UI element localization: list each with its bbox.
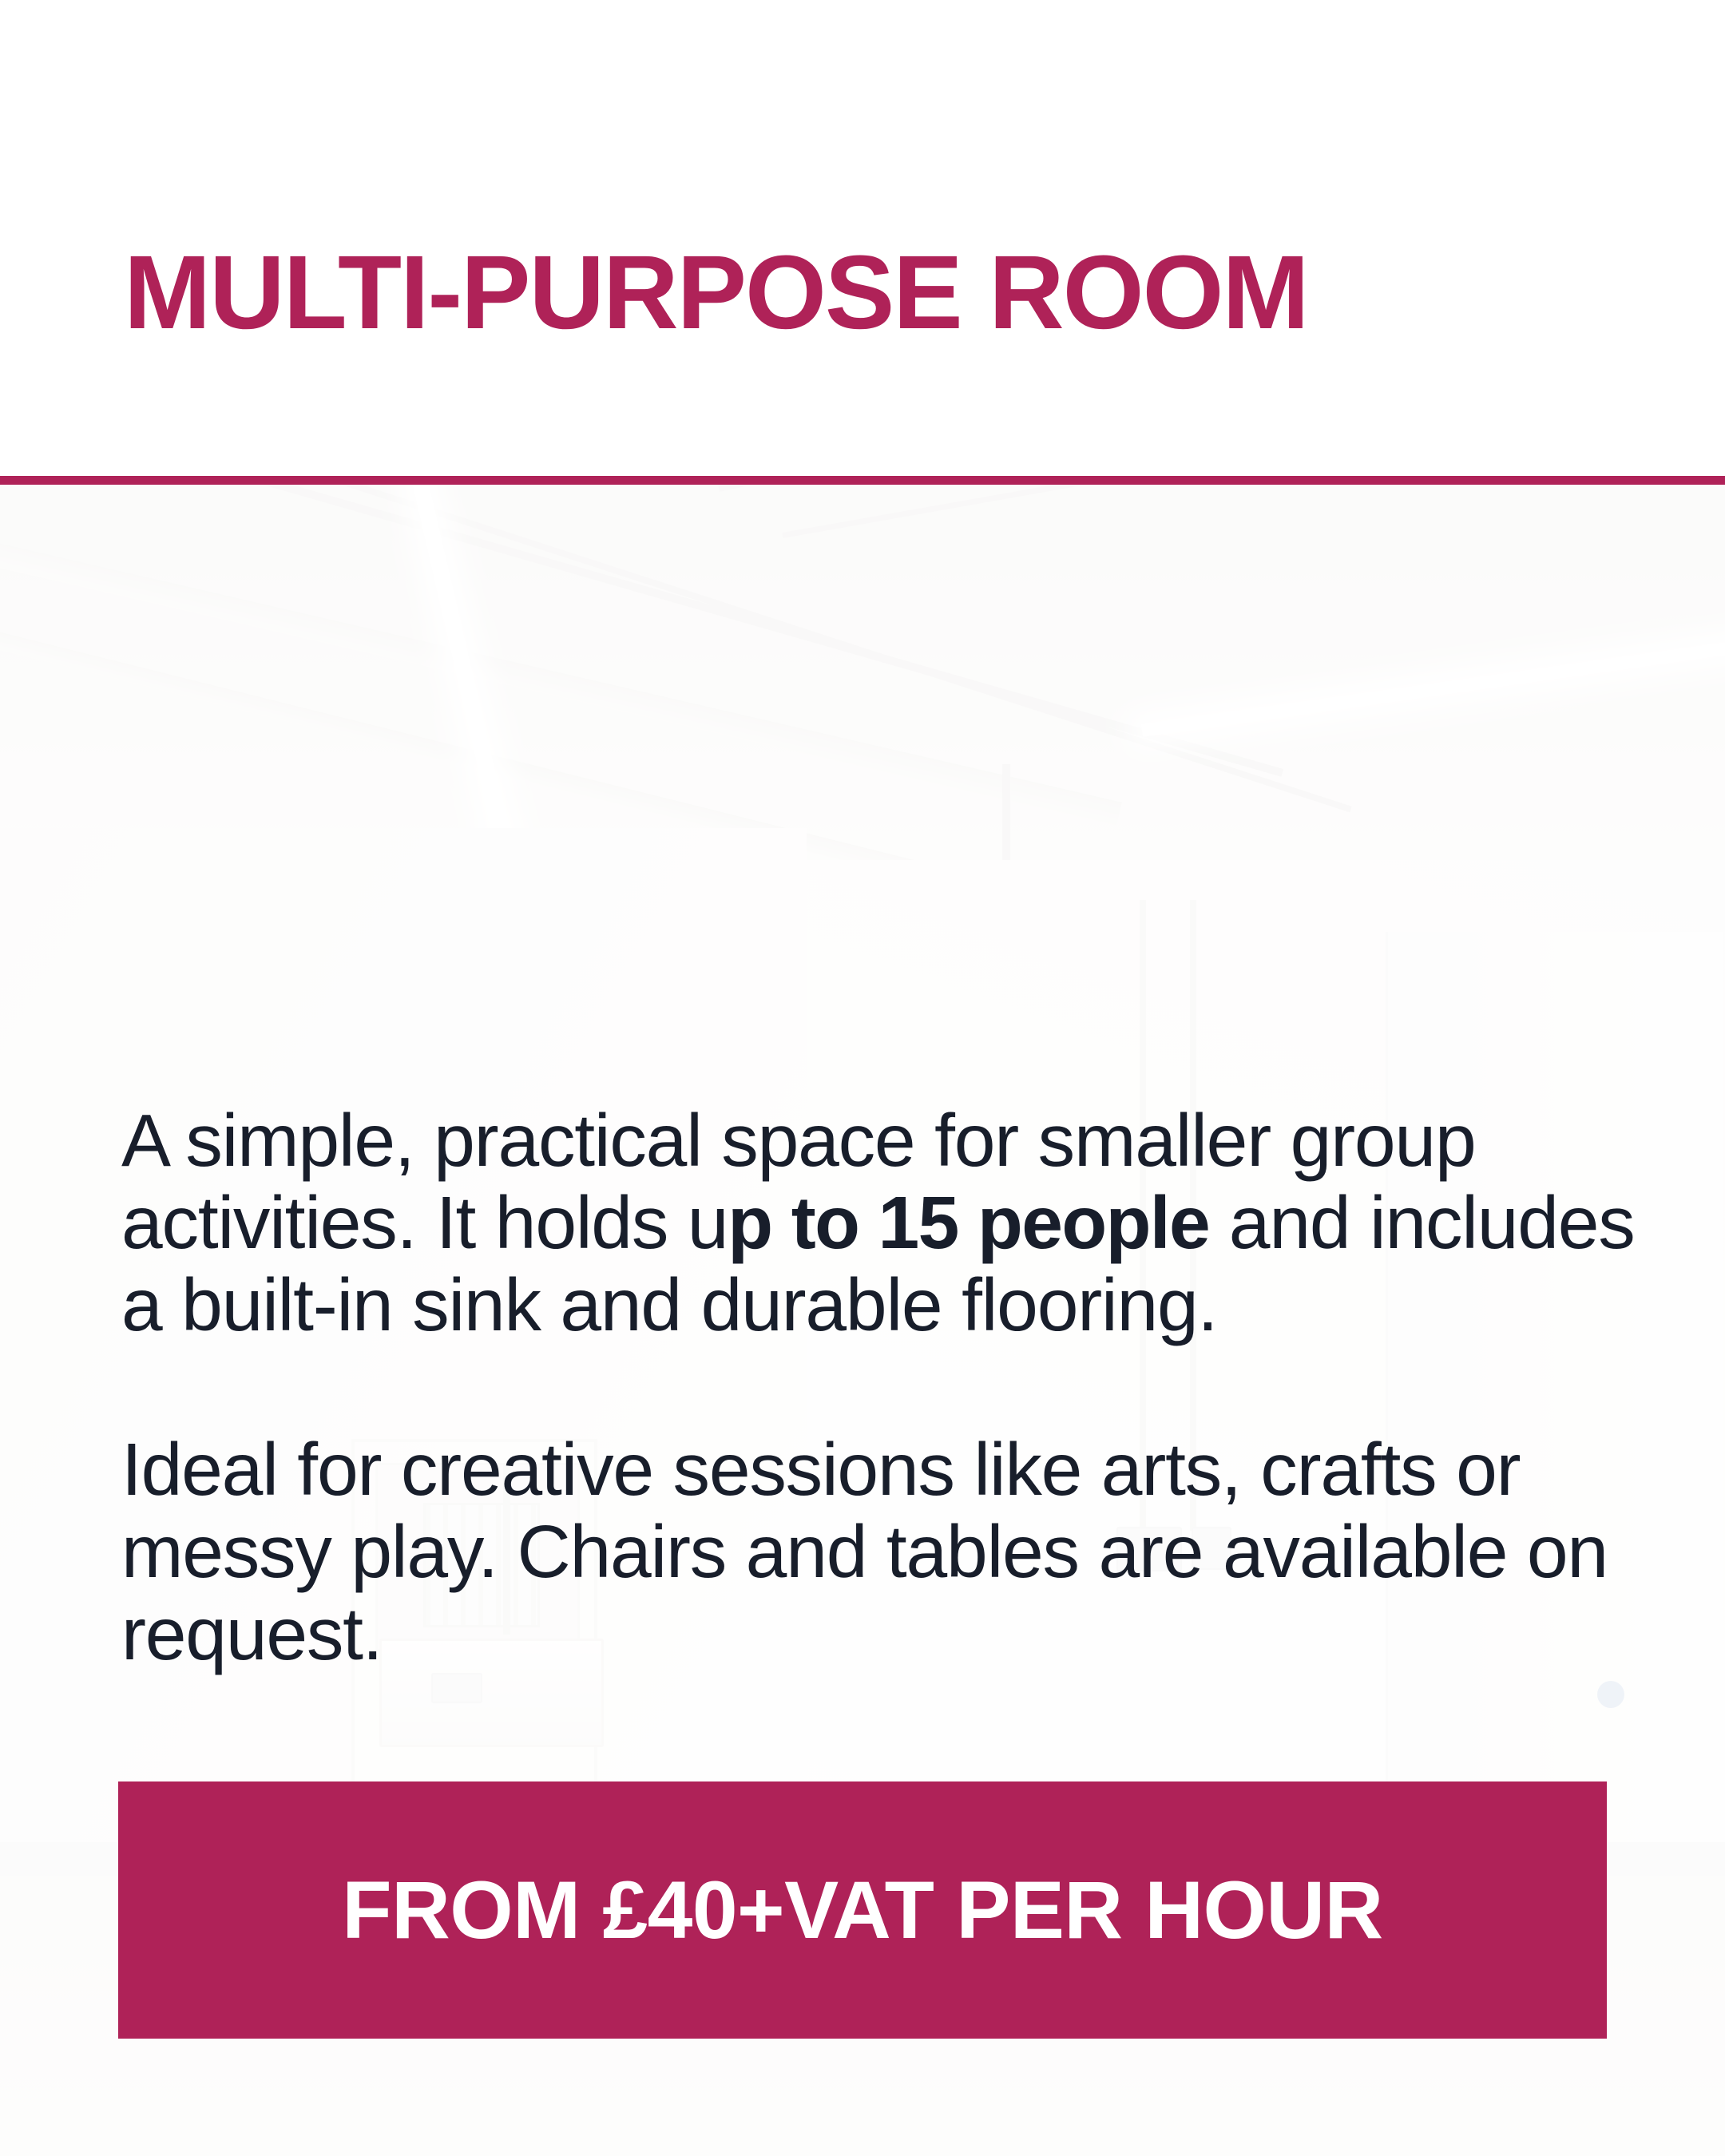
description-paragraph-2: Ideal for creative sessions like arts, c…: [121, 1429, 1639, 1675]
card-header: MULTI-PURPOSE ROOM: [0, 0, 1725, 476]
page-title: MULTI-PURPOSE ROOM: [124, 240, 1308, 344]
price-banner[interactable]: FROM £40+VAT PER HOUR: [118, 1781, 1607, 2039]
price-label: FROM £40+VAT PER HOUR: [342, 1869, 1382, 1951]
capacity-highlight: p to 15 people: [728, 1181, 1209, 1264]
description-block: A simple, practical space for smaller gr…: [121, 1100, 1639, 1675]
description-paragraph-1: A simple, practical space for smaller gr…: [121, 1100, 1639, 1346]
header-divider: [0, 476, 1725, 485]
room-info-card: MULTI-PURPOSE ROOM: [0, 0, 1725, 2156]
